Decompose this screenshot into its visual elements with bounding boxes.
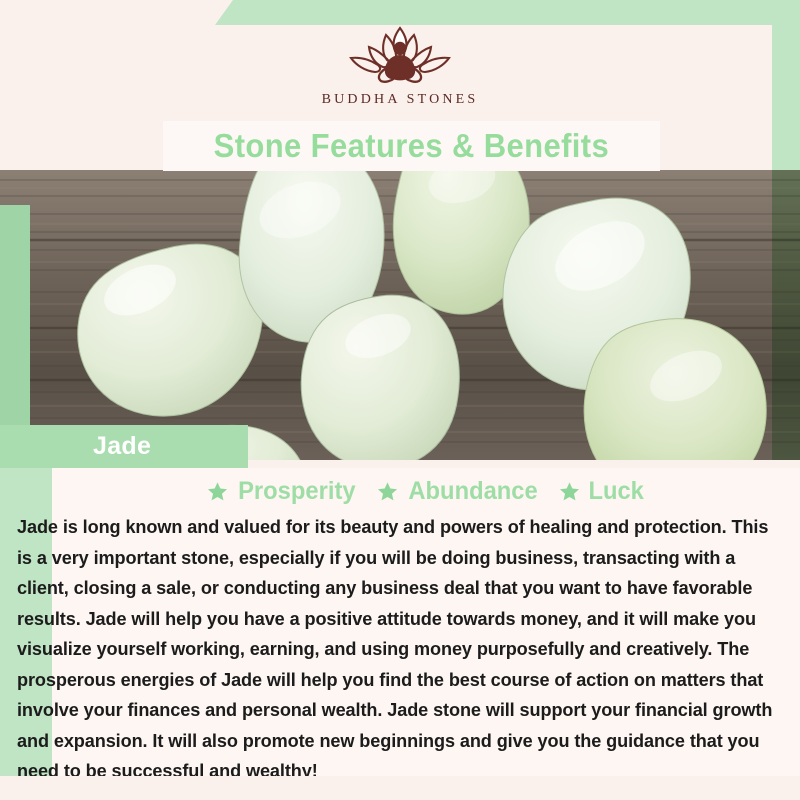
page-title-banner: Stone Features & Benefits (163, 121, 660, 171)
brand-name: BUDDHA STONES (322, 92, 479, 108)
benefit-item-abundance: Abundance (377, 477, 541, 506)
star-icon (207, 481, 228, 502)
lotus-meditation-icon (325, 22, 475, 86)
benefit-label: Prosperity (238, 477, 355, 506)
star-icon (559, 481, 580, 502)
infographic-page: BUDDHA STONES (0, 0, 800, 800)
jade-stones-photo (0, 170, 800, 460)
decorative-green-right-overlay (772, 170, 800, 460)
brand-logo: BUDDHA STONES (0, 22, 800, 108)
benefits-list: Prosperity Abundance Luck (52, 468, 800, 506)
stone-name-banner: Jade (0, 425, 248, 468)
star-icon (377, 481, 398, 502)
benefit-item-luck: Luck (559, 477, 645, 506)
page-title: Stone Features & Benefits (214, 127, 610, 165)
content-panel: Prosperity Abundance Luck Jade is long k… (52, 468, 800, 776)
benefit-label: Abundance (408, 477, 537, 506)
benefit-label: Luck (588, 477, 643, 506)
jade-stones-illustration (0, 170, 800, 460)
bottom-background-fill (0, 776, 800, 800)
benefit-item-prosperity: Prosperity (207, 477, 359, 506)
stone-description: Jade is long known and valued for its be… (17, 512, 780, 787)
stone-name: Jade (93, 432, 151, 461)
